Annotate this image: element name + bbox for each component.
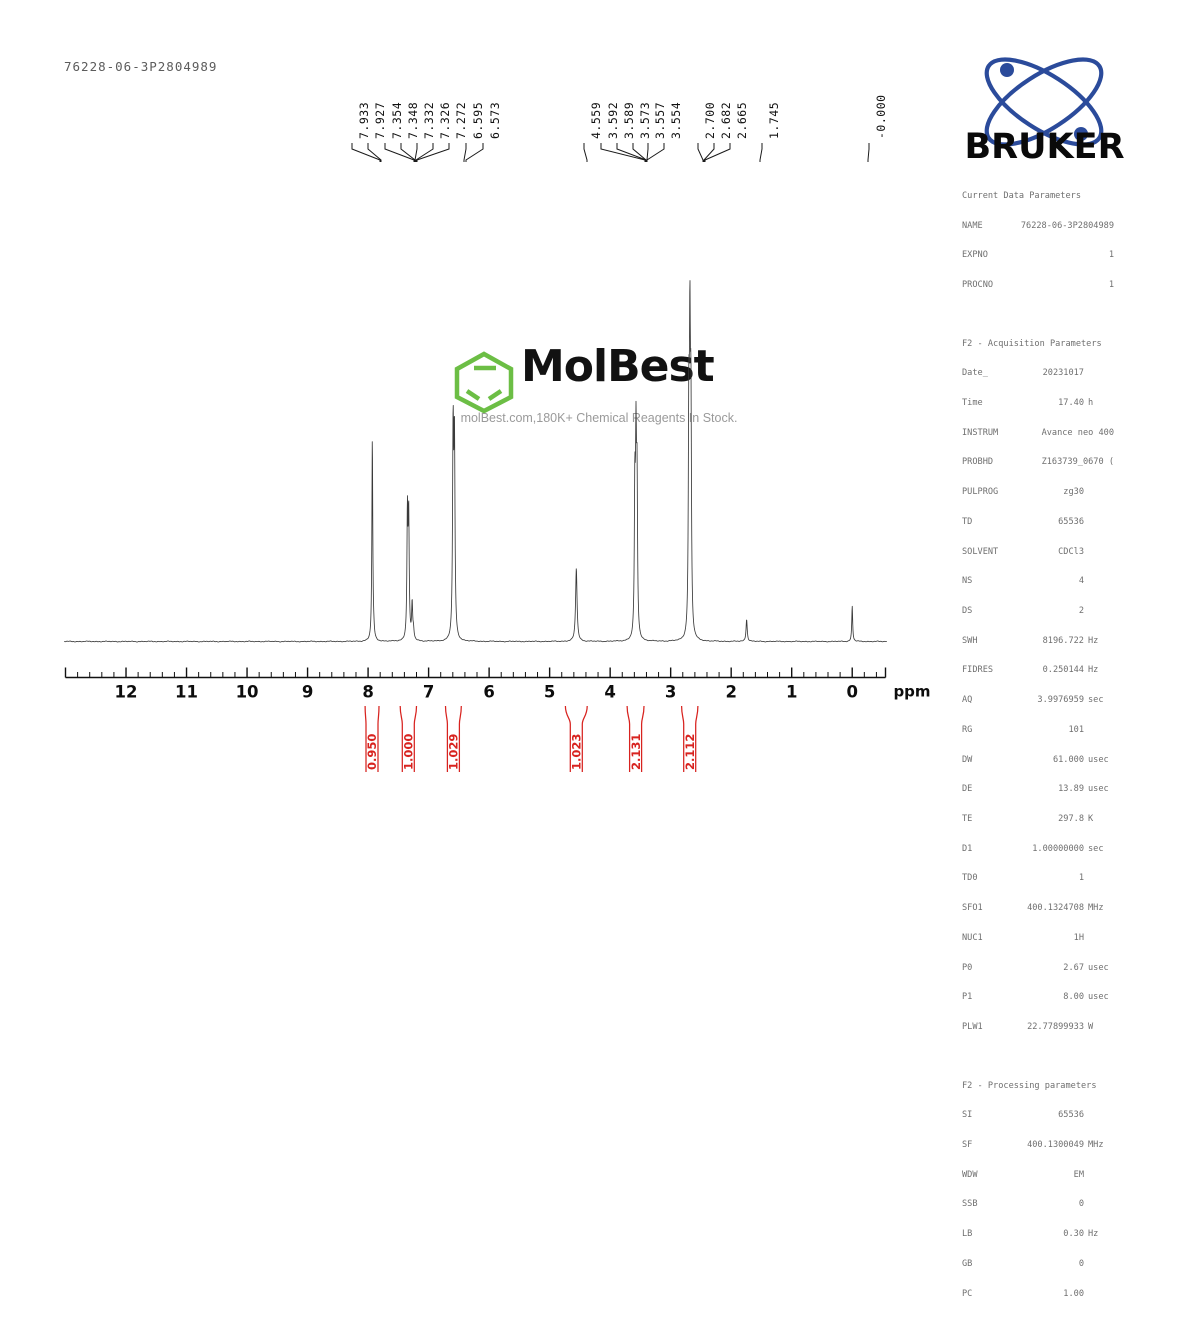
param-value: 2.67: [1020, 964, 1084, 974]
axis-tick-label: 7: [423, 683, 434, 702]
param-value: 1: [1020, 874, 1084, 884]
integral-group: 0.9501.0001.0291.0232.1312.112: [365, 706, 698, 772]
param-row: WDWEM: [962, 1171, 1114, 1181]
param-key: GB: [962, 1260, 1020, 1270]
param-key: SI: [962, 1111, 1020, 1121]
peak-leader-line: [868, 143, 869, 162]
param-unit: Hz: [1084, 1230, 1118, 1240]
param-row: TD01: [962, 874, 1114, 884]
param-value: 8.00: [1020, 993, 1084, 1003]
integral-value: 1.000: [402, 734, 416, 770]
param-row: NUC11H: [962, 934, 1114, 944]
param-row: PLW122.77899933W: [962, 1023, 1114, 1033]
integral-mark: 1.000: [400, 706, 416, 772]
axis-tick-label: 2: [725, 683, 736, 702]
peak-leader-line: [584, 143, 587, 162]
param-key: LB: [962, 1230, 1020, 1240]
param-value: 0: [1020, 1200, 1084, 1210]
peak-leader-line: [466, 143, 483, 162]
param-row: P18.00usec: [962, 993, 1114, 1003]
axis-tick-label: 12: [115, 683, 138, 702]
param-value: 1H: [1020, 934, 1084, 944]
param-key: PLW1: [962, 1023, 1020, 1033]
axis-tick-label: 9: [302, 683, 313, 702]
axis-tick-label: 6: [483, 683, 494, 702]
peak-leader-line: [647, 143, 664, 162]
param-unit: usec: [1084, 964, 1118, 974]
param-key: SSB: [962, 1200, 1020, 1210]
nmr-spectrum-page: 76228-06-3P2804989 BRUKER Current Data P…: [0, 0, 1190, 842]
axis-tick-label: 1: [786, 683, 797, 702]
axis-tick-label: 3: [665, 683, 676, 702]
param-key: NUC1: [962, 934, 1020, 944]
peak-leader-lines: [352, 143, 869, 162]
ppm-axis: 1211109876543210ppm: [66, 668, 931, 702]
integral-value: 0.950: [365, 734, 379, 770]
param-row: SI65536: [962, 1111, 1114, 1121]
param-key: SFO1: [962, 904, 1020, 914]
integral-mark: 0.950: [365, 706, 379, 772]
axis-tick-label: 8: [362, 683, 373, 702]
integral-mark: 2.131: [627, 706, 644, 772]
integral-mark: 1.029: [446, 706, 462, 772]
axis-unit-label: ppm: [893, 683, 930, 701]
param-key: D1: [962, 845, 1020, 855]
peak-leader-line: [704, 143, 714, 162]
integral-value: 1.023: [570, 734, 584, 770]
param-key: TD0: [962, 874, 1020, 884]
param-row: SSB0: [962, 1200, 1114, 1210]
param-row: SFO1400.1324708MHz: [962, 904, 1114, 914]
param-value: 0.30: [1020, 1230, 1084, 1240]
axis-tick-label: 4: [604, 683, 615, 702]
param-unit: MHz: [1084, 1141, 1118, 1151]
param-value: 400.1300049: [1020, 1141, 1084, 1151]
spectrum-trace: [65, 281, 887, 642]
param-value: 22.77899933: [1020, 1023, 1084, 1033]
peak-leader-line: [601, 143, 645, 162]
param-value: 1.00000000: [1020, 845, 1084, 855]
spacer: [962, 1053, 1114, 1062]
nmr-chart: 1211109876543210ppm0.9501.0001.0291.0232…: [0, 0, 1190, 842]
param-unit: usec: [1084, 993, 1118, 1003]
param-key: P1: [962, 993, 1020, 1003]
param-key: P0: [962, 964, 1020, 974]
axis-tick-label: 10: [236, 683, 259, 702]
param-key: SF: [962, 1141, 1020, 1151]
axis-tick-label: 0: [846, 683, 857, 702]
peak-leader-line: [385, 143, 414, 162]
param-value: 1.00: [1020, 1290, 1084, 1300]
param-key: PC: [962, 1290, 1020, 1300]
axis-tick-label: 5: [544, 683, 555, 702]
param-unit: MHz: [1084, 904, 1118, 914]
param-row: GB0: [962, 1260, 1114, 1270]
params-section-title-processing: F2 - Processing parameters: [962, 1082, 1114, 1092]
axis-tick-label: 11: [175, 683, 198, 702]
peak-leader-line: [464, 143, 466, 162]
param-value: 0: [1020, 1260, 1084, 1270]
param-row: D11.00000000sec: [962, 845, 1114, 855]
param-unit: W: [1084, 1023, 1118, 1033]
integral-mark: 1.023: [565, 706, 587, 772]
param-row: PC1.00: [962, 1290, 1114, 1300]
peak-leader-line: [760, 143, 762, 162]
peak-leader-line: [352, 143, 380, 162]
integral-value: 1.029: [447, 734, 461, 770]
param-value: 65536: [1020, 1111, 1084, 1121]
param-key: WDW: [962, 1171, 1020, 1181]
peak-leader-line: [705, 143, 730, 162]
param-row: P02.67usec: [962, 964, 1114, 974]
param-row: LB0.30Hz: [962, 1230, 1114, 1240]
integral-value: 2.112: [683, 734, 697, 770]
param-value: 400.1324708: [1020, 904, 1084, 914]
integral-mark: 2.112: [682, 706, 698, 772]
integral-value: 2.131: [629, 734, 643, 770]
param-row: SF400.1300049MHz: [962, 1141, 1114, 1151]
param-unit: sec: [1084, 845, 1118, 855]
param-value: EM: [1020, 1171, 1084, 1181]
peak-leader-line: [698, 143, 703, 162]
